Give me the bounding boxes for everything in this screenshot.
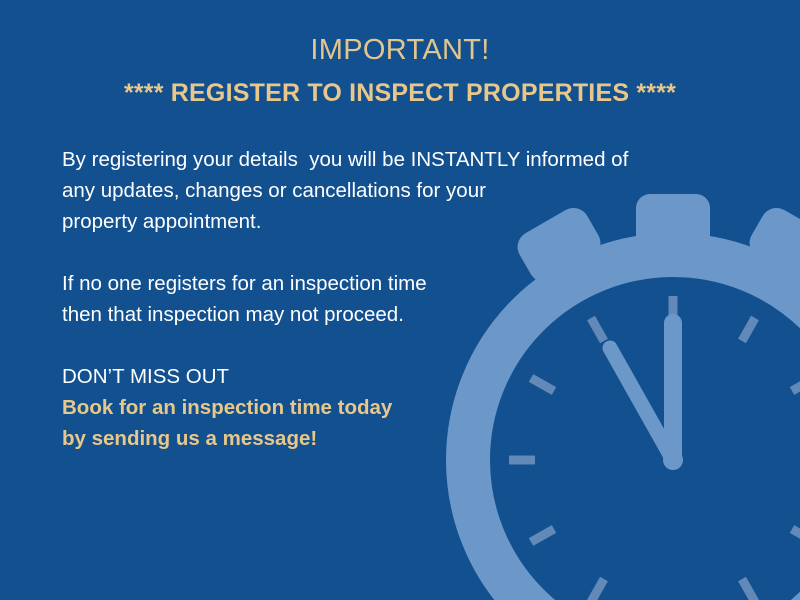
body-paragraph-no-registration: If no one registers for an inspection ti… [62, 268, 722, 330]
cta-send-message: by sending us a message! [62, 423, 722, 454]
promotional-slide: IMPORTANT! **** REGISTER TO INSPECT PROP… [0, 0, 800, 600]
cta-dont-miss-out: DON’T MISS OUT [62, 361, 722, 392]
body-paragraph-registering: By registering your details you will be … [62, 144, 722, 237]
headline-important: IMPORTANT! [0, 30, 800, 70]
slide-content: IMPORTANT! **** REGISTER TO INSPECT PROP… [0, 0, 800, 600]
paragraph-spacer [62, 237, 722, 268]
headline-block: IMPORTANT! **** REGISTER TO INSPECT PROP… [0, 30, 800, 112]
paragraph-spacer [62, 330, 722, 361]
body-block: By registering your details you will be … [62, 144, 722, 454]
headline-register: **** REGISTER TO INSPECT PROPERTIES **** [0, 74, 800, 112]
cta-book-inspection: Book for an inspection time today [62, 392, 722, 423]
